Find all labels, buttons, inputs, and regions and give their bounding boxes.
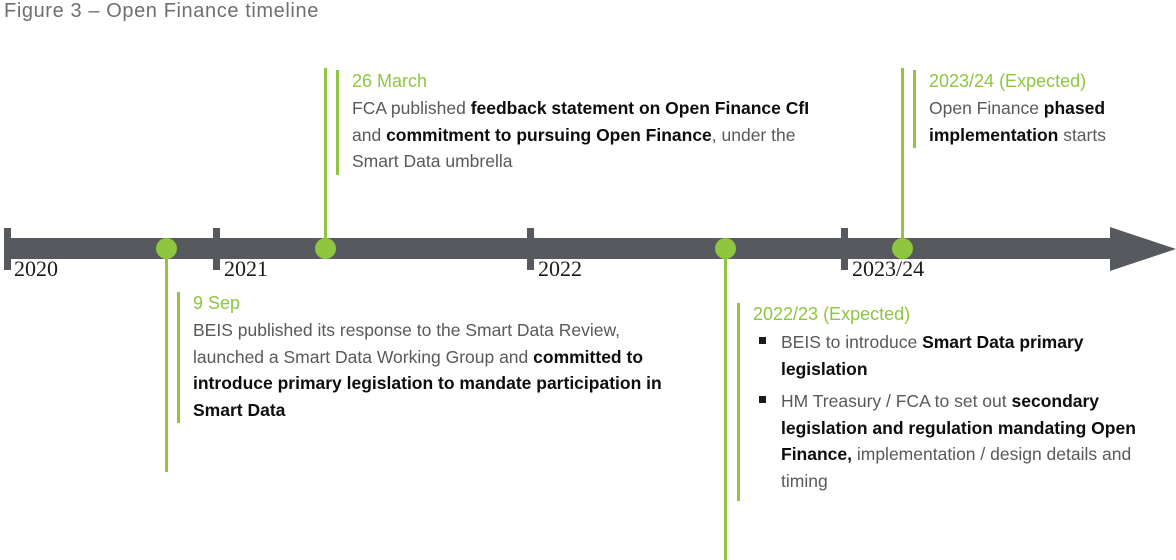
milestone-dot-2022-23[interactable] bbox=[715, 238, 736, 259]
annotation-date-26-march: 26 March bbox=[352, 70, 836, 94]
milestone-stem-9-sep bbox=[165, 252, 168, 472]
figure-timeline: Figure 3 – Open Finance timeline 2020 20… bbox=[0, 0, 1176, 560]
annotation-9-sep: 9 Sep BEIS published its response to the… bbox=[177, 292, 687, 423]
milestone-stem-2022-23 bbox=[724, 252, 727, 560]
annotation-date-2022-23: 2022/23 (Expected) bbox=[753, 303, 1157, 327]
list-item: HM Treasury / FCA to set out secondary l… bbox=[753, 388, 1157, 494]
list-item: BEIS to introduce Smart Data primary leg… bbox=[753, 329, 1157, 382]
annotation-bullet-list-2022-23: BEIS to introduce Smart Data primary leg… bbox=[753, 329, 1157, 495]
axis-tick-2022 bbox=[527, 228, 534, 270]
milestone-dot-26-march[interactable] bbox=[315, 238, 336, 259]
annotation-26-march: 26 March FCA published feedback statemen… bbox=[336, 70, 836, 175]
axis-label-2020: 2020 bbox=[14, 256, 58, 282]
axis-label-2023-24: 2023/24 bbox=[852, 256, 924, 282]
axis-label-2021: 2021 bbox=[224, 256, 268, 282]
annotation-2023-24: 2023/24 (Expected) Open Finance phased i… bbox=[913, 70, 1163, 148]
milestone-dot-9-sep[interactable] bbox=[156, 238, 177, 259]
axis-label-2022: 2022 bbox=[538, 256, 582, 282]
annotation-body-26-march: FCA published feedback statement on Open… bbox=[352, 95, 836, 175]
annotation-date-9-sep: 9 Sep bbox=[193, 292, 687, 316]
annotation-date-2023-24: 2023/24 (Expected) bbox=[929, 70, 1163, 94]
bullet-square-icon bbox=[759, 396, 766, 403]
page-title: Figure 3 – Open Finance timeline bbox=[4, 0, 319, 23]
bullet-square-icon bbox=[759, 337, 766, 344]
axis-tick-2020 bbox=[4, 228, 11, 270]
annotation-body-2023-24: Open Finance phased implementation start… bbox=[929, 95, 1163, 148]
milestone-stem-26-march bbox=[324, 68, 327, 243]
milestone-dot-2023-24[interactable] bbox=[892, 238, 913, 259]
annotation-2022-23: 2022/23 (Expected) BEIS to introduce Sma… bbox=[737, 303, 1157, 501]
milestone-stem-2023-24 bbox=[901, 68, 904, 243]
axis-tick-2021 bbox=[213, 228, 220, 270]
list-item-text: BEIS to introduce Smart Data primary leg… bbox=[781, 332, 1084, 379]
axis-tick-2023-24 bbox=[841, 228, 848, 270]
list-item-text: HM Treasury / FCA to set out secondary l… bbox=[781, 391, 1136, 491]
annotation-body-9-sep: BEIS published its response to the Smart… bbox=[193, 317, 687, 423]
timeline-arrow-icon bbox=[1110, 227, 1176, 271]
